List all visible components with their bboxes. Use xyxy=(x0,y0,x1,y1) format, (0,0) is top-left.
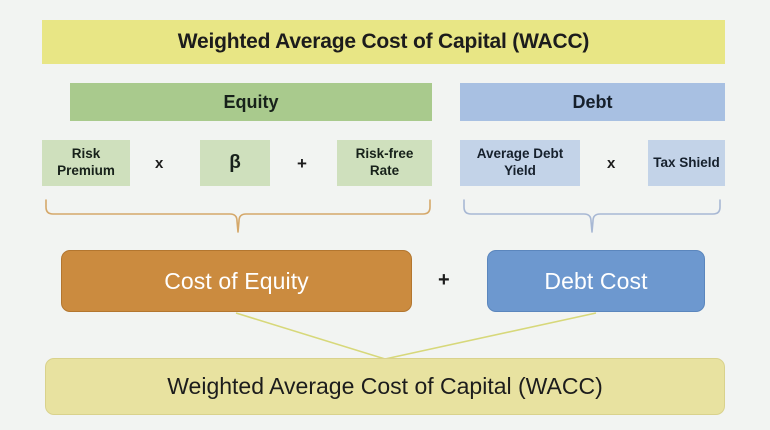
term-average-debt-yield: Average Debt Yield xyxy=(460,140,580,186)
term-risk-premium: Risk Premium xyxy=(42,140,130,186)
result-cost-of-equity: Cost of Equity xyxy=(61,250,412,312)
top-banner-wacc: Weighted Average Cost of Capital (WACC) xyxy=(42,20,725,64)
result-debt-cost: Debt Cost xyxy=(487,250,705,312)
operator-multiply-debt: x xyxy=(607,155,615,172)
bottom-banner-wacc: Weighted Average Cost of Capital (WACC) xyxy=(45,358,725,415)
wacc-diagram: Weighted Average Cost of Capital (WACC) … xyxy=(0,0,770,430)
brace-debt xyxy=(460,198,724,238)
term-beta: β xyxy=(200,140,270,186)
operator-plus-results: + xyxy=(438,269,450,292)
brace-equity xyxy=(42,198,434,238)
term-tax-shield: Tax Shield xyxy=(648,140,725,186)
category-bar-equity: Equity xyxy=(70,83,432,121)
term-risk-free-rate: Risk-free Rate xyxy=(337,140,432,186)
operator-plus-equity: + xyxy=(297,154,307,174)
category-bar-debt: Debt xyxy=(460,83,725,121)
operator-multiply-equity: x xyxy=(155,155,163,172)
